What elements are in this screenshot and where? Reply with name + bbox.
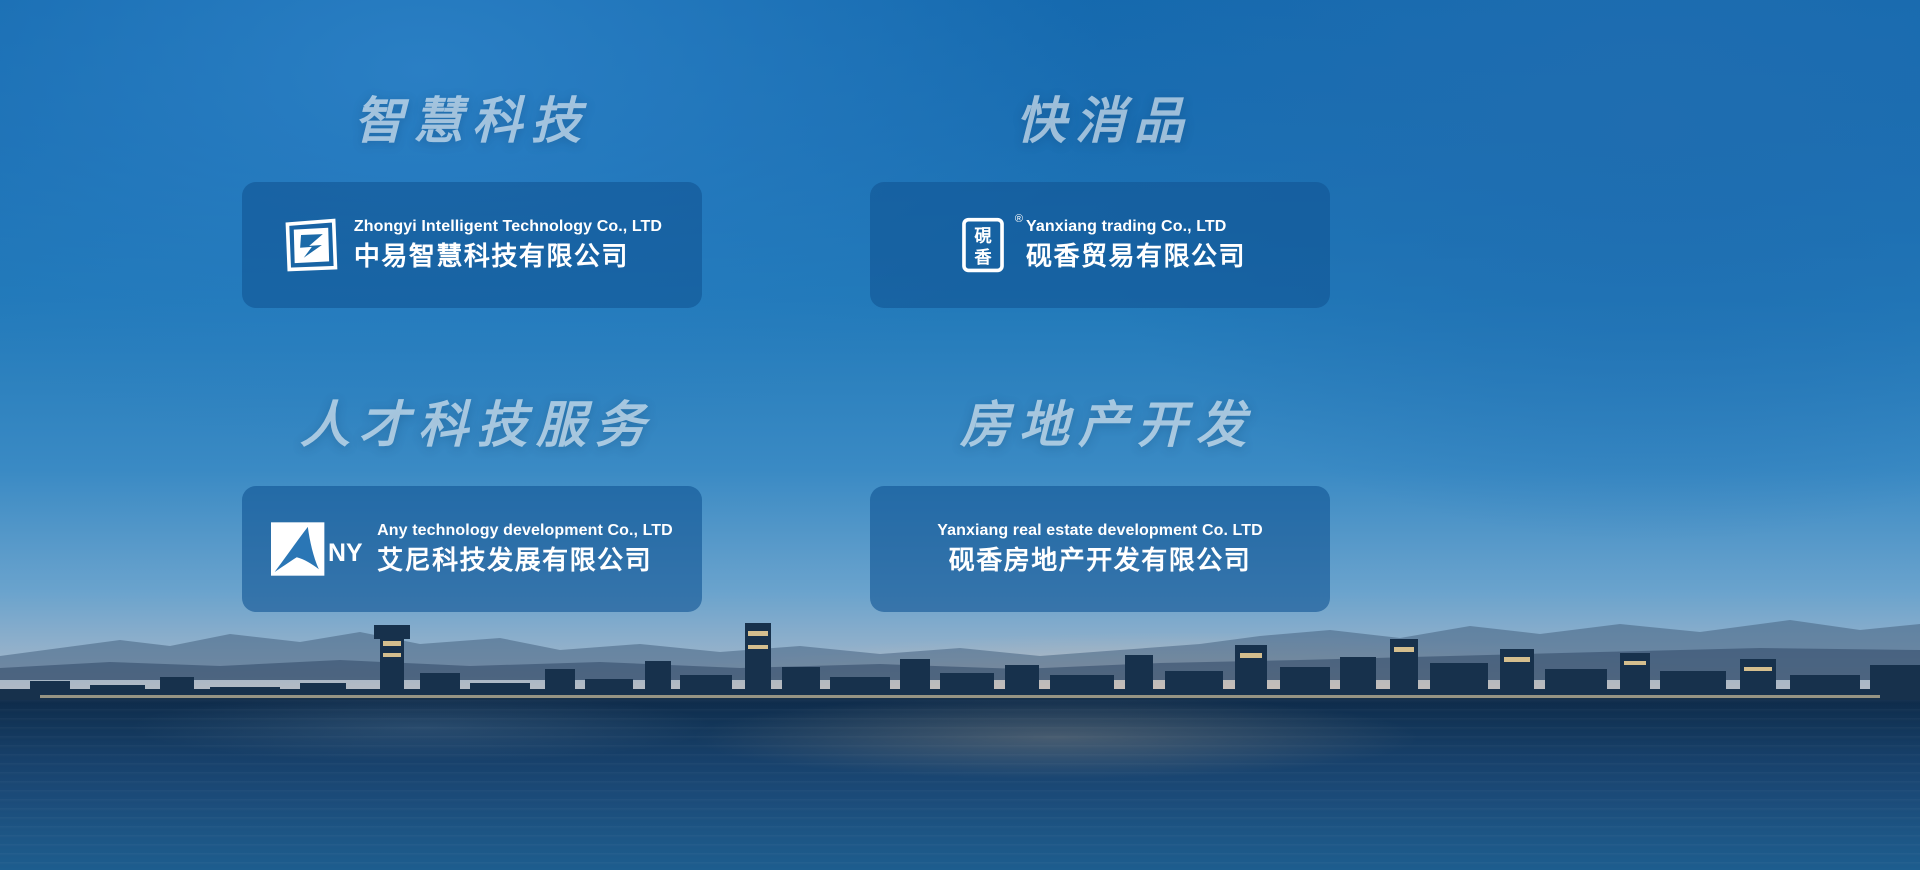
sector-heading: 人才科技服务 [242,400,702,450]
sector-panel-talent-tech-services: 人才科技服务 NY Any technology development Co.… [242,400,702,612]
company-names: Zhongyi Intelligent Technology Co., LTD … [354,217,662,273]
yanxiang-seal-logo-icon: 硯 香 ® [954,216,1012,274]
company-names: Yanxiang trading Co., LTD 砚香贸易有限公司 [1026,217,1246,273]
company-card-yanxiang-trading[interactable]: 硯 香 ® Yanxiang trading Co., LTD 砚香贸易有限公司 [870,182,1330,308]
company-name-en: Yanxiang real estate development Co. LTD [937,521,1263,541]
sector-panel-real-estate: 房地产开发 Yanxiang real estate development C… [870,400,1330,612]
sector-heading: 房地产开发 [870,400,1330,450]
company-names: Any technology development Co., LTD 艾尼科技… [377,521,673,577]
sector-heading: 快消品 [870,96,1330,146]
company-names: Yanxiang real estate development Co. LTD… [937,521,1263,577]
zhongyi-z-seal-logo-icon [282,216,340,274]
sector-panel-smart-technology: 智慧科技 Zhongyi Intelligent Technology Co.,… [242,96,702,308]
company-card-yanxiang-real-estate[interactable]: Yanxiang real estate development Co. LTD… [870,486,1330,612]
svg-text:硯: 硯 [974,226,992,246]
company-name-cn: 艾尼科技发展有限公司 [377,543,673,577]
sector-heading: 智慧科技 [242,96,702,146]
any-technology-logo-icon: NY [271,520,363,578]
business-sectors-banner: 智慧科技 Zhongyi Intelligent Technology Co.,… [0,0,1920,870]
company-name-en: Any technology development Co., LTD [377,521,673,541]
company-name-en: Zhongyi Intelligent Technology Co., LTD [354,217,662,237]
sector-panel-fmcg: 快消品 硯 香 ® Yanxiang tradi [870,96,1330,308]
company-name-cn: 砚香房地产开发有限公司 [937,543,1263,577]
company-name-en: Yanxiang trading Co., LTD [1026,217,1246,237]
sector-grid: 智慧科技 Zhongyi Intelligent Technology Co.,… [0,0,1920,870]
svg-text:香: 香 [974,248,992,268]
company-name-cn: 中易智慧科技有限公司 [354,239,662,273]
any-logo-wordmark: NY [328,540,363,567]
company-card-zhongyi[interactable]: Zhongyi Intelligent Technology Co., LTD … [242,182,702,308]
registered-trademark-mark: ® [1015,213,1023,225]
company-name-cn: 砚香贸易有限公司 [1026,239,1246,273]
company-card-any-technology[interactable]: NY Any technology development Co., LTD 艾… [242,486,702,612]
